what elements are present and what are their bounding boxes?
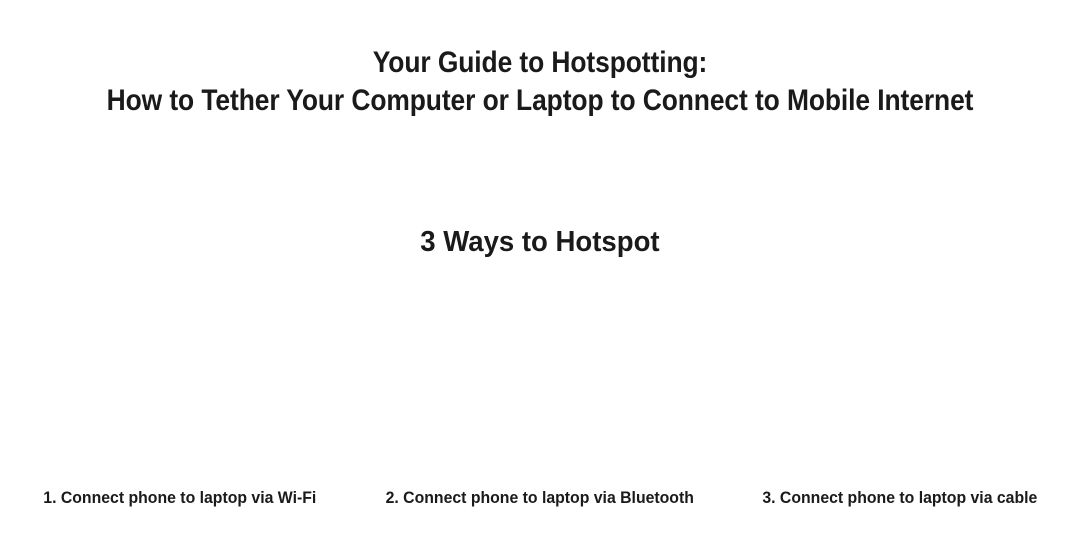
illustration-slot-bluetooth [360, 280, 720, 475]
infographic-page: Your Guide to Hotspotting: How to Tether… [0, 0, 1080, 552]
step-caption-3: 3. Connect phone to laptop via cable [720, 487, 1080, 509]
step-caption-2: 2. Connect phone to laptop via Bluetooth [360, 487, 720, 509]
step-caption-1-text: 1. Connect phone to laptop via Wi-Fi [43, 487, 316, 509]
section-heading-text: 3 Ways to Hotspot [420, 222, 659, 262]
step-caption-3-text: 3. Connect phone to laptop via cable [763, 487, 1038, 509]
illustration-band [0, 280, 1080, 475]
page-title-line-1: Your Guide to Hotspotting: [65, 44, 1015, 82]
illustration-slot-cable [720, 280, 1080, 475]
page-title: Your Guide to Hotspotting: How to Tether… [0, 44, 1080, 120]
step-caption-1: 1. Connect phone to laptop via Wi-Fi [0, 487, 360, 509]
step-caption-2-text: 2. Connect phone to laptop via Bluetooth [386, 487, 694, 509]
illustration-slot-wifi [0, 280, 360, 475]
page-title-line-2: How to Tether Your Computer or Laptop to… [65, 82, 1015, 120]
section-heading: 3 Ways to Hotspot [0, 222, 1080, 262]
step-caption-row: 1. Connect phone to laptop via Wi-Fi 2. … [0, 487, 1080, 509]
